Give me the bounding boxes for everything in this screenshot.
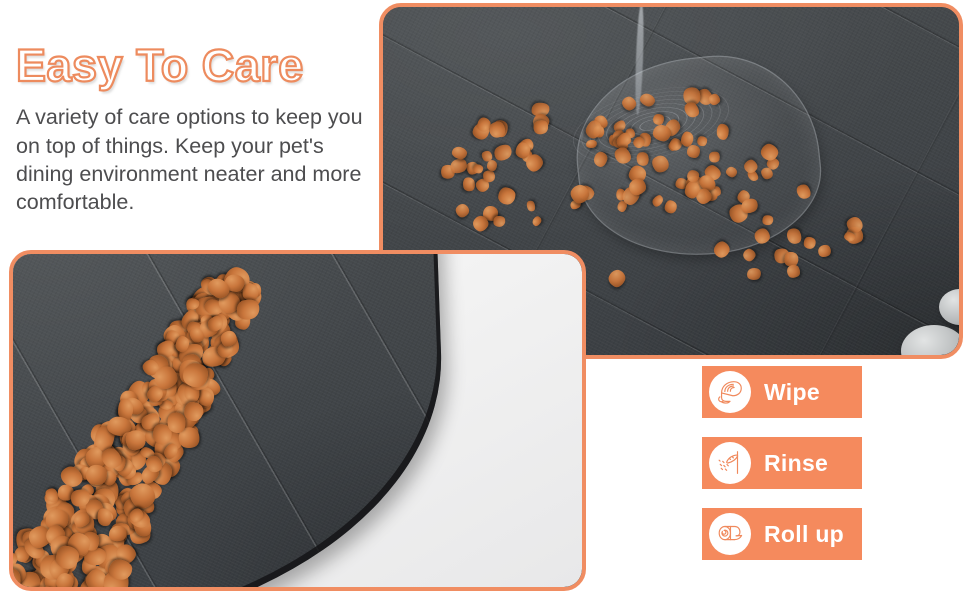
care-options-list: Wipe Rinse <box>702 366 862 579</box>
kibble-piece <box>687 169 699 182</box>
kibble-piece <box>185 402 204 421</box>
pour-off-photo-inner <box>13 254 582 587</box>
badge-rinse[interactable]: Rinse <box>702 437 862 489</box>
badge-label: Rinse <box>764 450 828 477</box>
body-copy: A variety of care options to keep you on… <box>16 103 374 217</box>
badge-wipe[interactable]: Wipe <box>702 366 862 418</box>
kibble-piece <box>716 124 729 140</box>
badge-roll-up[interactable]: Roll up <box>702 508 862 560</box>
badge-label: Roll up <box>764 521 844 548</box>
rolled-mat-icon <box>709 513 751 555</box>
hand-wiping-cloth-icon <box>709 371 751 413</box>
kibble-piece <box>803 237 815 249</box>
pour-off-photo <box>9 250 586 591</box>
infographic-page: Easy To Care A variety of care options t… <box>0 0 970 600</box>
page-title: Easy To Care <box>16 42 376 89</box>
text-block: Easy To Care A variety of care options t… <box>16 42 376 217</box>
kibble-piece <box>85 464 107 486</box>
badge-label: Wipe <box>764 379 820 406</box>
showerhead-water-icon <box>709 442 751 484</box>
